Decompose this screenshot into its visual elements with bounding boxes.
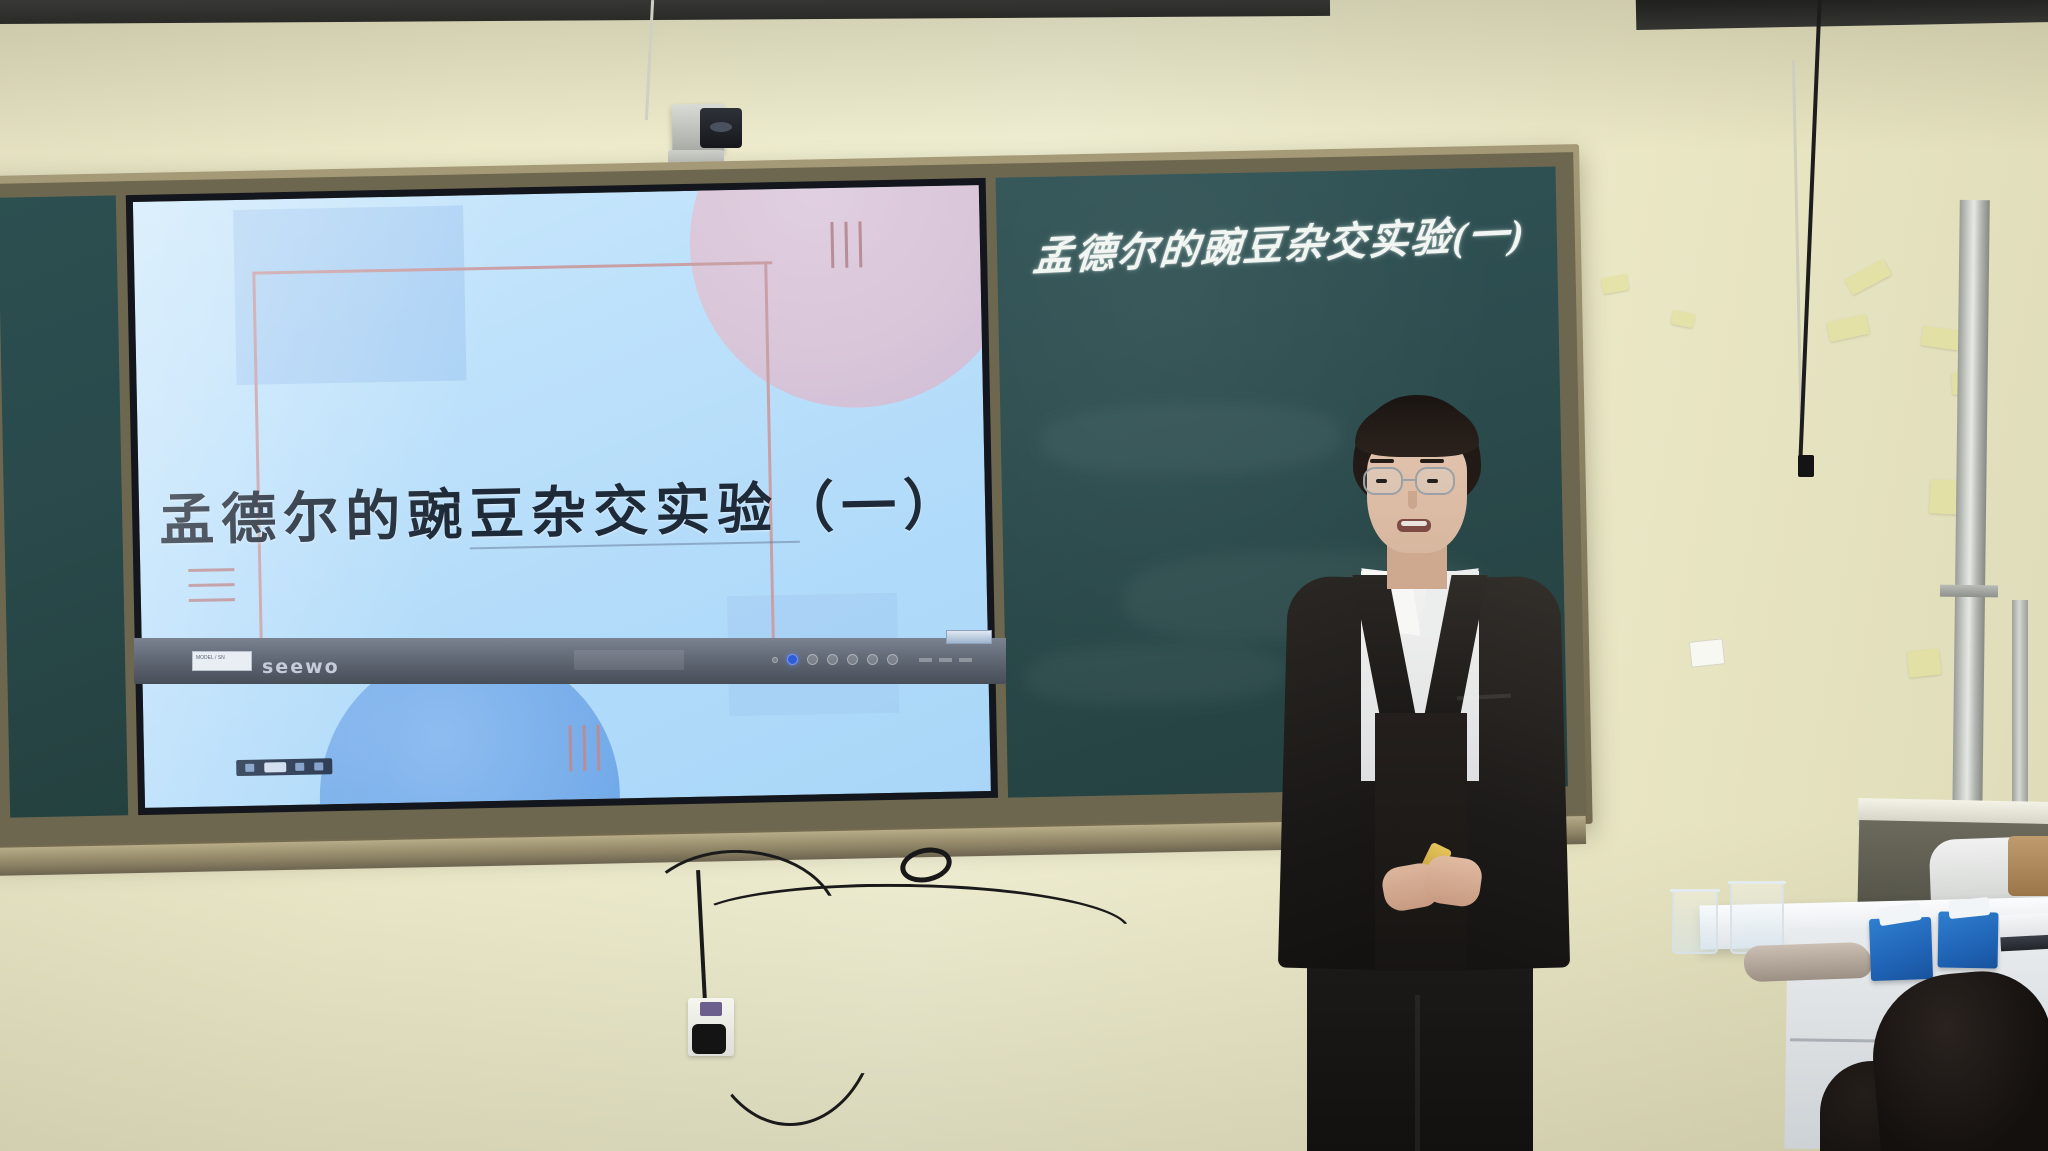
- jacket-front: [1375, 713, 1467, 971]
- stacked-books: [1999, 909, 2048, 950]
- wooden-stool: [2008, 836, 2048, 896]
- display-button-row[interactable]: [772, 654, 898, 665]
- presentation-slide[interactable]: 孟德尔的豌豆杂交实验（一）: [133, 185, 991, 808]
- power-button[interactable]: [787, 654, 798, 665]
- trousers: [1307, 955, 1533, 1151]
- slide-decor-ticks-top: [830, 221, 862, 268]
- tape-mark: [1907, 648, 1942, 677]
- screen-glare: [133, 185, 652, 808]
- tissue-box: [1938, 911, 1999, 968]
- energy-label-sticker: [946, 630, 992, 644]
- usb-port[interactable]: [919, 658, 932, 662]
- power-indicator-icon: [772, 657, 778, 663]
- eyebrow-right: [1420, 459, 1444, 463]
- chalk-smudge: [1025, 642, 1286, 707]
- home-button[interactable]: [887, 654, 898, 665]
- display-port-row[interactable]: [919, 658, 972, 662]
- power-plug: [692, 1024, 726, 1054]
- left-chalkboard: [0, 195, 128, 817]
- wall-lower-shadow: [0, 821, 2048, 1151]
- glass-beaker: [1730, 884, 1784, 954]
- eyebrow-left: [1370, 459, 1394, 463]
- volume-down-button[interactable]: [827, 654, 838, 665]
- outlet-switch[interactable]: [700, 1002, 722, 1016]
- camera-lens-icon: [700, 108, 742, 148]
- hand-right: [1422, 853, 1484, 908]
- wall-paper-scrap: [1689, 638, 1726, 667]
- aux-port[interactable]: [959, 658, 972, 662]
- eyeglasses-bridge: [1403, 479, 1417, 481]
- input-source-button[interactable]: [867, 654, 878, 665]
- eye-left: [1376, 479, 1387, 483]
- glass-beaker: [1672, 892, 1718, 954]
- hanging-cable-plug: [1798, 455, 1814, 477]
- tissue-box: [1869, 917, 1933, 981]
- interactive-flat-panel[interactable]: 孟德尔的豌豆杂交实验（一）: [126, 178, 998, 815]
- volume-up-button[interactable]: [847, 654, 858, 665]
- chalkboard-handwriting: 孟德尔的豌豆杂交实验(一): [1032, 213, 1515, 280]
- ir-sensor-bar: [574, 650, 684, 670]
- classroom-photo: 孟德尔的豌豆杂交实验（一） 孟德尔的豌豆杂交实验(一): [0, 0, 2048, 1151]
- student-presenter: [1275, 395, 1575, 1151]
- display-brand-logo: seewo: [262, 656, 340, 678]
- display-spec-label: MODEL / SN: [192, 651, 252, 671]
- folded-cloth: [1743, 942, 1872, 982]
- hdmi-port[interactable]: [939, 658, 952, 662]
- display-bezel: MODEL / SN seewo: [134, 638, 1006, 684]
- nose: [1408, 491, 1417, 509]
- eye-right: [1427, 479, 1438, 483]
- trouser-seam: [1415, 995, 1420, 1151]
- mouth: [1397, 519, 1431, 532]
- pipe-clamp: [1940, 585, 1998, 598]
- hair-fringe: [1355, 403, 1479, 457]
- menu-button[interactable]: [807, 654, 818, 665]
